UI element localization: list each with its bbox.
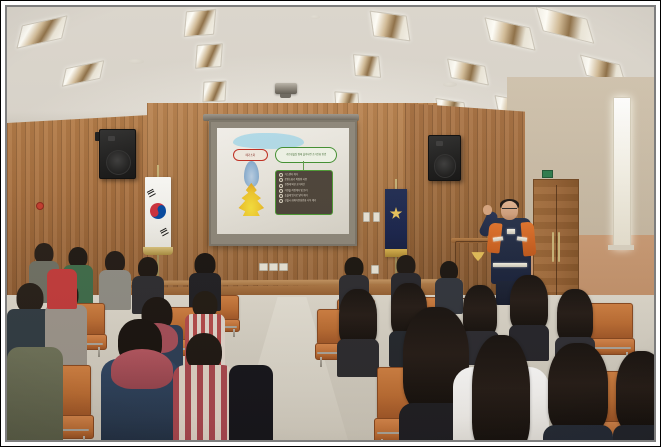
audience-member: [613, 351, 654, 440]
ceiling-projector: [275, 83, 297, 94]
audience-member: [543, 343, 613, 440]
ceiling-vent: [443, 82, 457, 87]
auditorium-photograph: 폐기소화 가연성물질 옆에 불이나면 초기진화 방법 가스렌지 제거 분말소화기…: [7, 7, 654, 440]
projection-screen: 폐기소화 가연성물질 옆에 불이나면 초기진화 방법 가스렌지 제거 분말소화기…: [209, 120, 357, 246]
audience-member: [229, 365, 273, 440]
slide-bullet-text: 분말소화기 적정량 사용: [285, 179, 307, 181]
light-switch-plate[interactable]: [259, 263, 268, 271]
bullet-icon: [279, 178, 283, 182]
organization-emblem-icon: [390, 207, 403, 220]
slide-bullet-item: 가스렌지 제거: [279, 173, 330, 177]
slide-flame-shape: [236, 183, 266, 216]
audience-member: [111, 349, 173, 389]
audience-member: [173, 333, 235, 440]
organization-flag: [385, 189, 407, 257]
speaker-left: [99, 129, 136, 179]
slide-bullet-text: 촛불에 입기로 덮어 제거: [285, 195, 308, 197]
door-handle-left[interactable]: [552, 232, 554, 262]
slide-bullet-text: 가연물 직접제거 및 분리: [285, 190, 308, 192]
bullet-icon: [279, 189, 283, 193]
light-switch-plate[interactable]: [269, 263, 278, 271]
presenter-glasses: [502, 208, 517, 212]
trigram-geon: [147, 189, 156, 198]
slide-bullet-item: 전원에 의한 공기차단: [279, 184, 330, 188]
slide-bullet-text: 전원에 의한 공기차단: [285, 184, 305, 186]
ceiling-light-panel: [184, 9, 217, 38]
presenter-reflective-stripe: [493, 263, 527, 267]
ceiling-light-panel: [195, 43, 223, 69]
ceiling-vent: [128, 59, 144, 64]
slide-figure-illustration: [235, 161, 267, 216]
ceiling-light-panel: [370, 11, 411, 42]
projected-slide: 폐기소화 가연성물질 옆에 불이나면 초기진화 방법 가스렌지 제거 분말소화기…: [217, 128, 349, 234]
speaker-right: [428, 135, 461, 181]
presenter-reflective-stripe: [507, 229, 515, 234]
hood-scarf: [111, 349, 173, 389]
audience-member: [47, 269, 77, 309]
slide-bullet-text: 가스렌지 제거: [285, 174, 298, 176]
torso: [229, 365, 273, 440]
slide-bullet-item: 분말소화기 적정량 사용: [279, 178, 330, 182]
presenter-hand: [483, 205, 492, 215]
ceiling-light-panel: [353, 54, 381, 78]
torso: [7, 347, 63, 440]
korean-flag: [145, 177, 171, 251]
slide-bullet-item: 촛불에 입기로 덮어 제거: [279, 194, 330, 198]
slide-tag-green: 가연성물질 옆에 불이나면 초기진화 방법: [275, 147, 337, 163]
wall-outlet-plate[interactable]: [363, 212, 370, 222]
bullet-icon: [279, 184, 283, 188]
wall-outlet-plate[interactable]: [371, 265, 379, 274]
light-switch-plate[interactable]: [279, 263, 288, 271]
photo-frame: 폐기소화 가연성물질 옆에 불이나면 초기진화 방법 가스렌지 제거 분말소화기…: [0, 0, 661, 447]
long-hair: [557, 289, 593, 343]
long-hair: [548, 343, 608, 433]
slide-bullet-item: 가연물 직접제거 및 분리: [279, 189, 330, 193]
torso: [173, 365, 235, 440]
emergency-exit-sign: [542, 170, 553, 178]
photo-mat: 폐기소화 가연성물질 옆에 불이나면 초기진화 방법 가스렌지 제거 분말소화기…: [5, 5, 656, 442]
slide-bullet-text: 산불시 화재가연성인화 나무 제거: [285, 200, 317, 202]
slide-connector-line: [303, 161, 304, 171]
torso: [47, 269, 77, 309]
torso: [337, 339, 379, 377]
bullet-icon: [279, 194, 283, 198]
bullet-icon: [279, 199, 283, 203]
fire-alarm-button[interactable]: [36, 202, 44, 210]
trigram-gon: [160, 228, 169, 237]
wall-outlet-plate[interactable]: [373, 212, 380, 222]
taeguk-symbol: [147, 200, 169, 222]
long-hair: [616, 351, 654, 431]
long-hair: [510, 275, 548, 331]
slide-bullet-box: 가스렌지 제거 분말소화기 적정량 사용 전원에 의한 공기차단 가연물 직접제…: [275, 170, 333, 215]
slide-bullet-item: 산불시 화재가연성인화 나무 제거: [279, 199, 330, 203]
ceiling-vent: [310, 15, 320, 19]
korean-flag-fringe: [143, 247, 173, 255]
window-sill: [608, 245, 634, 250]
audience-member: [99, 251, 131, 309]
bullet-icon: [279, 173, 283, 177]
audience-member: [435, 261, 463, 311]
audience-member: [7, 347, 63, 440]
vertical-window: [613, 97, 631, 249]
torso: [613, 425, 654, 440]
torso: [543, 425, 613, 440]
audience-member: [453, 335, 549, 440]
slide-tag-red: 폐기소화: [233, 149, 268, 161]
long-hair: [472, 335, 530, 440]
podium-emblem-icon: [472, 252, 485, 261]
door-handle-right[interactable]: [558, 232, 560, 262]
ceiling-light-panel: [202, 80, 226, 102]
audience-member: [337, 289, 379, 375]
